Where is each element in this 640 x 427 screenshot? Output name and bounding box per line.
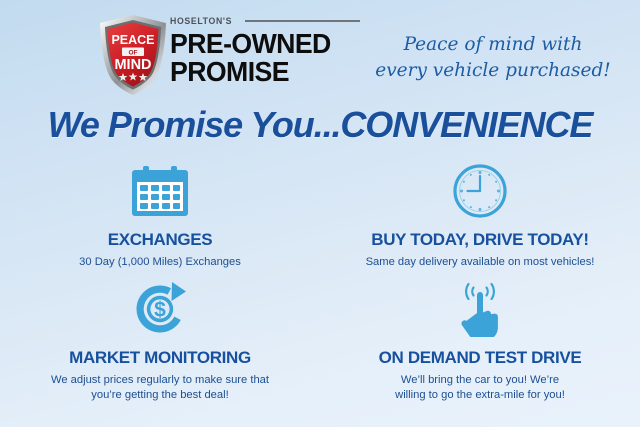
dealer-name: HOSELTON'S (170, 16, 232, 27)
feature-desc-line: willing to go the extra-mile for you! (320, 388, 640, 403)
feature-desc-line: you’re getting the best deal! (0, 388, 320, 403)
header: PEACE OF MIND HOSELTON'S PRE-OWNED PROMI… (0, 4, 640, 102)
feature-desc-line: Same day delivery available on most vehi… (320, 255, 640, 270)
feature-desc-line: We adjust prices regularly to make sure … (0, 373, 320, 388)
tap-hand-icon (320, 278, 640, 340)
feature-description: We adjust prices regularly to make sure … (0, 373, 320, 402)
header-divider (245, 20, 361, 22)
feature-title: BUY TODAY, DRIVE TODAY! (320, 230, 640, 250)
svg-text:$: $ (154, 299, 166, 322)
feature-description: 30 Day (1,000 Miles) Exchanges (0, 255, 320, 270)
page-headline: We Promise You...CONVENIENCE (0, 104, 640, 146)
shield-text-of: OF (128, 49, 137, 56)
feature-title: EXCHANGES (0, 230, 320, 250)
promise-line-1: PRE-OWNED (170, 31, 354, 56)
feature-item-test-drive: ON DEMAND TEST DRIVE We’ll bring the car… (320, 278, 640, 402)
feature-desc-line: 30 Day (1,000 Miles) Exchanges (0, 255, 320, 270)
shield-badge-icon: PEACE OF MIND (98, 14, 168, 96)
tagline: Peace of mind with every vehicle purchas… (358, 32, 628, 84)
feature-item-buy-today: BUY TODAY, DRIVE TODAY! Same day deliver… (320, 160, 640, 270)
calendar-icon (0, 160, 320, 222)
feature-title: ON DEMAND TEST DRIVE (320, 348, 640, 368)
feature-description: Same day delivery available on most vehi… (320, 255, 640, 270)
shield-text-peace: PEACE (111, 33, 154, 47)
feature-item-market-monitoring: $ MARKET MONITORING We adjust prices reg… (0, 278, 320, 402)
dealer-name-row: HOSELTON'S (170, 14, 360, 28)
clock-icon (320, 160, 640, 222)
promise-line-2: PROMISE (170, 59, 354, 84)
tagline-line-2: every vehicle purchased! (358, 58, 628, 84)
feature-item-exchanges: EXCHANGES 30 Day (1,000 Miles) Exchanges (0, 160, 320, 270)
tagline-line-1: Peace of mind with (358, 32, 628, 58)
feature-title: MARKET MONITORING (0, 348, 320, 368)
dollar-refresh-icon: $ (0, 278, 320, 340)
brand-block: HOSELTON'S PRE-OWNED PROMISE (170, 14, 360, 84)
shield-text-mind: MIND (114, 57, 151, 73)
features-grid: EXCHANGES 30 Day (1,000 Miles) Exchanges (0, 160, 640, 427)
feature-description: We’ll bring the car to you! We’re willin… (320, 373, 640, 402)
feature-desc-line: We’ll bring the car to you! We’re (320, 373, 640, 388)
promo-graphic: PEACE OF MIND HOSELTON'S PRE-OWNED PROMI… (0, 0, 640, 427)
